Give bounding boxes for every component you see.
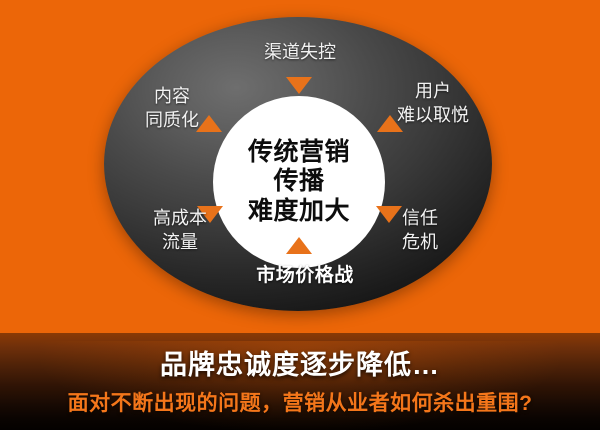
- node-label-line: 难以取悦: [378, 104, 488, 128]
- node-label-content-homogenization: 内容 同质化: [126, 85, 218, 133]
- center-headline-line-3: 难度加大: [248, 197, 350, 227]
- arrow-up-icon-bottom: [286, 237, 312, 254]
- node-label-trust-crisis: 信任 危机: [380, 207, 460, 255]
- banner-subheadline: 面对不断出现的问题，营销从业者如何杀出重围?: [0, 387, 600, 417]
- node-label-high-cost-traffic: 高成本 流量: [134, 207, 226, 255]
- node-label-line: 渠道失控: [240, 41, 360, 65]
- center-headline-line-2: 传播: [273, 167, 324, 197]
- poster: 传统营销 传播 难度加大 渠道失控 内容 同质化 用户 难以取悦 高成本 流量 …: [0, 0, 600, 430]
- banner-headline: 品牌忠诚度逐步降低…: [0, 343, 600, 382]
- node-label-line: 信任: [380, 207, 460, 231]
- diagram-stage: 传统营销 传播 难度加大 渠道失控 内容 同质化 用户 难以取悦 高成本 流量 …: [0, 0, 600, 333]
- node-label-line: 高成本: [134, 207, 226, 231]
- node-label-line: 内容: [126, 85, 218, 109]
- arrow-down-icon-top: [286, 77, 312, 94]
- node-label-line: 危机: [380, 231, 460, 255]
- node-label-users-hard-to-please: 用户 难以取悦: [378, 80, 488, 128]
- node-label-market-price-war: 市场价格战: [230, 260, 380, 287]
- center-headline-line-1: 传统营销: [248, 138, 350, 168]
- bottom-banner: 品牌忠诚度逐步降低… 面对不断出现的问题，营销从业者如何杀出重围?: [0, 333, 600, 430]
- node-label-line: 市场价格战: [256, 265, 354, 286]
- node-label-line: 流量: [134, 231, 226, 255]
- node-label-line: 用户: [378, 80, 488, 104]
- node-label-channel-loss-of-control: 渠道失控: [240, 41, 360, 65]
- node-label-line: 同质化: [126, 109, 218, 133]
